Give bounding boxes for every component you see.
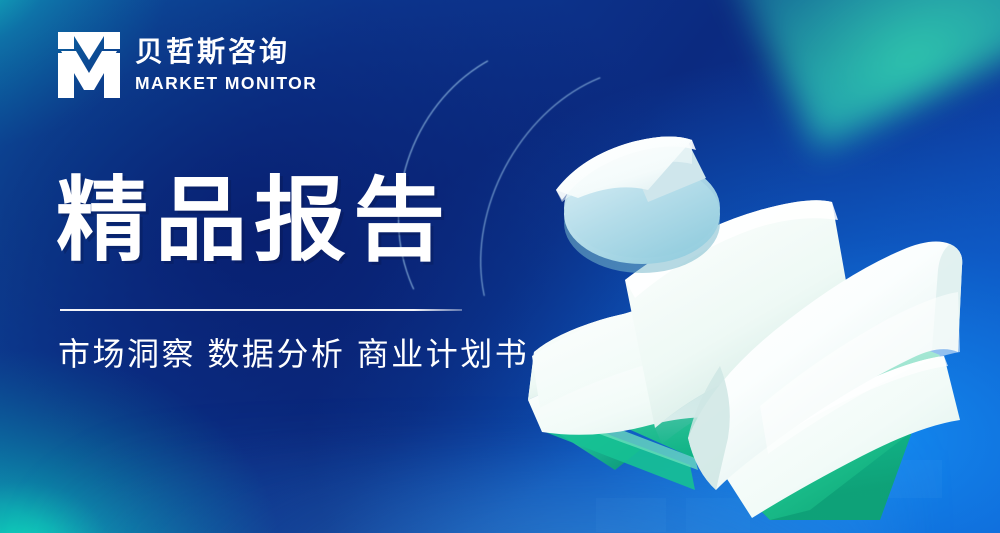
brand-logo[interactable]: 贝哲斯咨询 MARKET MONITOR — [58, 32, 317, 98]
company-name-cn: 贝哲斯咨询 — [135, 35, 317, 68]
brand-logo-text: 贝哲斯咨询 MARKET MONITOR — [135, 35, 317, 96]
company-name-en: MARKET MONITOR — [135, 72, 317, 96]
open-book-illustration — [520, 120, 980, 520]
hero-subtitle: 市场洞察 数据分析 商业计划书 — [58, 334, 529, 376]
promo-banner: 贝哲斯咨询 MARKET MONITOR 精品报告 市场洞察 数据分析 商业计划… — [0, 0, 1000, 533]
page-title: 精品报告 — [56, 172, 452, 271]
market-monitor-m-logo-icon — [58, 32, 120, 98]
title-divider — [60, 309, 462, 311]
